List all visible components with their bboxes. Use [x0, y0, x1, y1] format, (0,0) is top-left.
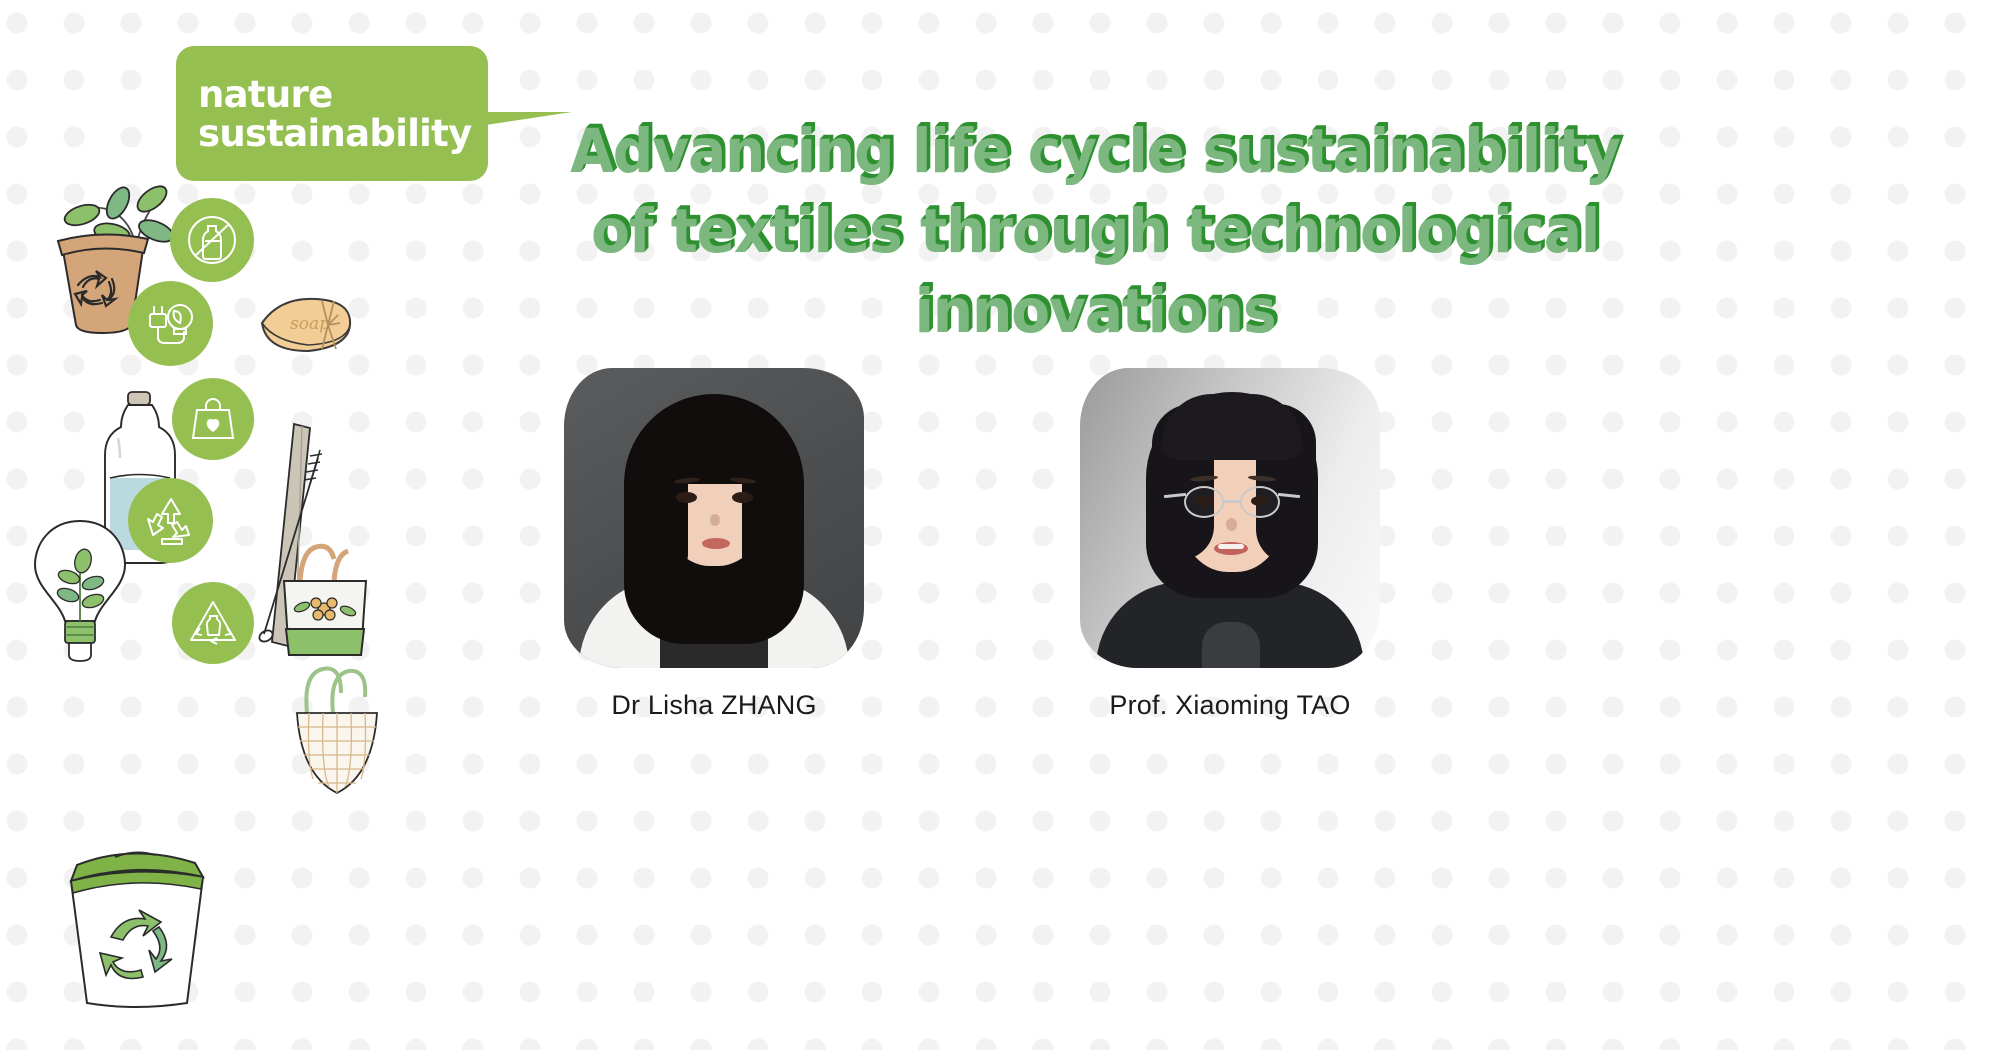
speaker-card-1: Dr Lisha ZHANG	[564, 368, 864, 721]
title-line-2: of textiles through technological	[514, 192, 1677, 272]
soap-bar-icon: soap	[250, 285, 360, 360]
title-line-3: innovations	[514, 272, 1677, 352]
recycle-bottle-icon	[172, 582, 254, 664]
speaker-1-name: Dr Lisha ZHANG	[564, 690, 864, 721]
nature-sustainability-badge: nature sustainability	[176, 46, 488, 181]
no-plastic-bottle-icon	[170, 198, 254, 282]
eco-plug-bulb-icon	[128, 281, 213, 366]
svg-text:soap: soap	[290, 314, 330, 334]
poster-stage: soap	[0, 0, 2000, 1050]
recycle-bin-icon	[55, 825, 215, 1010]
title-line-1: Advancing life cycle sustainability	[514, 112, 1677, 192]
brand-line-2: sustainability	[198, 114, 488, 153]
page-title: Advancing life cycle sustainability of t…	[514, 112, 1677, 352]
brand-line-1: nature	[198, 75, 488, 114]
speaker-card-2: Prof. Xiaoming TAO	[1080, 368, 1380, 721]
shopping-bag-heart-icon	[172, 378, 254, 460]
plant-lightbulb-icon	[25, 517, 135, 662]
speaker-2-name: Prof. Xiaoming TAO	[1080, 690, 1380, 721]
mesh-net-bag-icon	[285, 665, 390, 800]
portrait-xiaoming-tao	[1080, 368, 1380, 668]
recycle-arrows-icon	[128, 478, 213, 563]
tote-bag-icon	[272, 535, 377, 660]
portrait-lisha-zhang	[564, 368, 864, 668]
